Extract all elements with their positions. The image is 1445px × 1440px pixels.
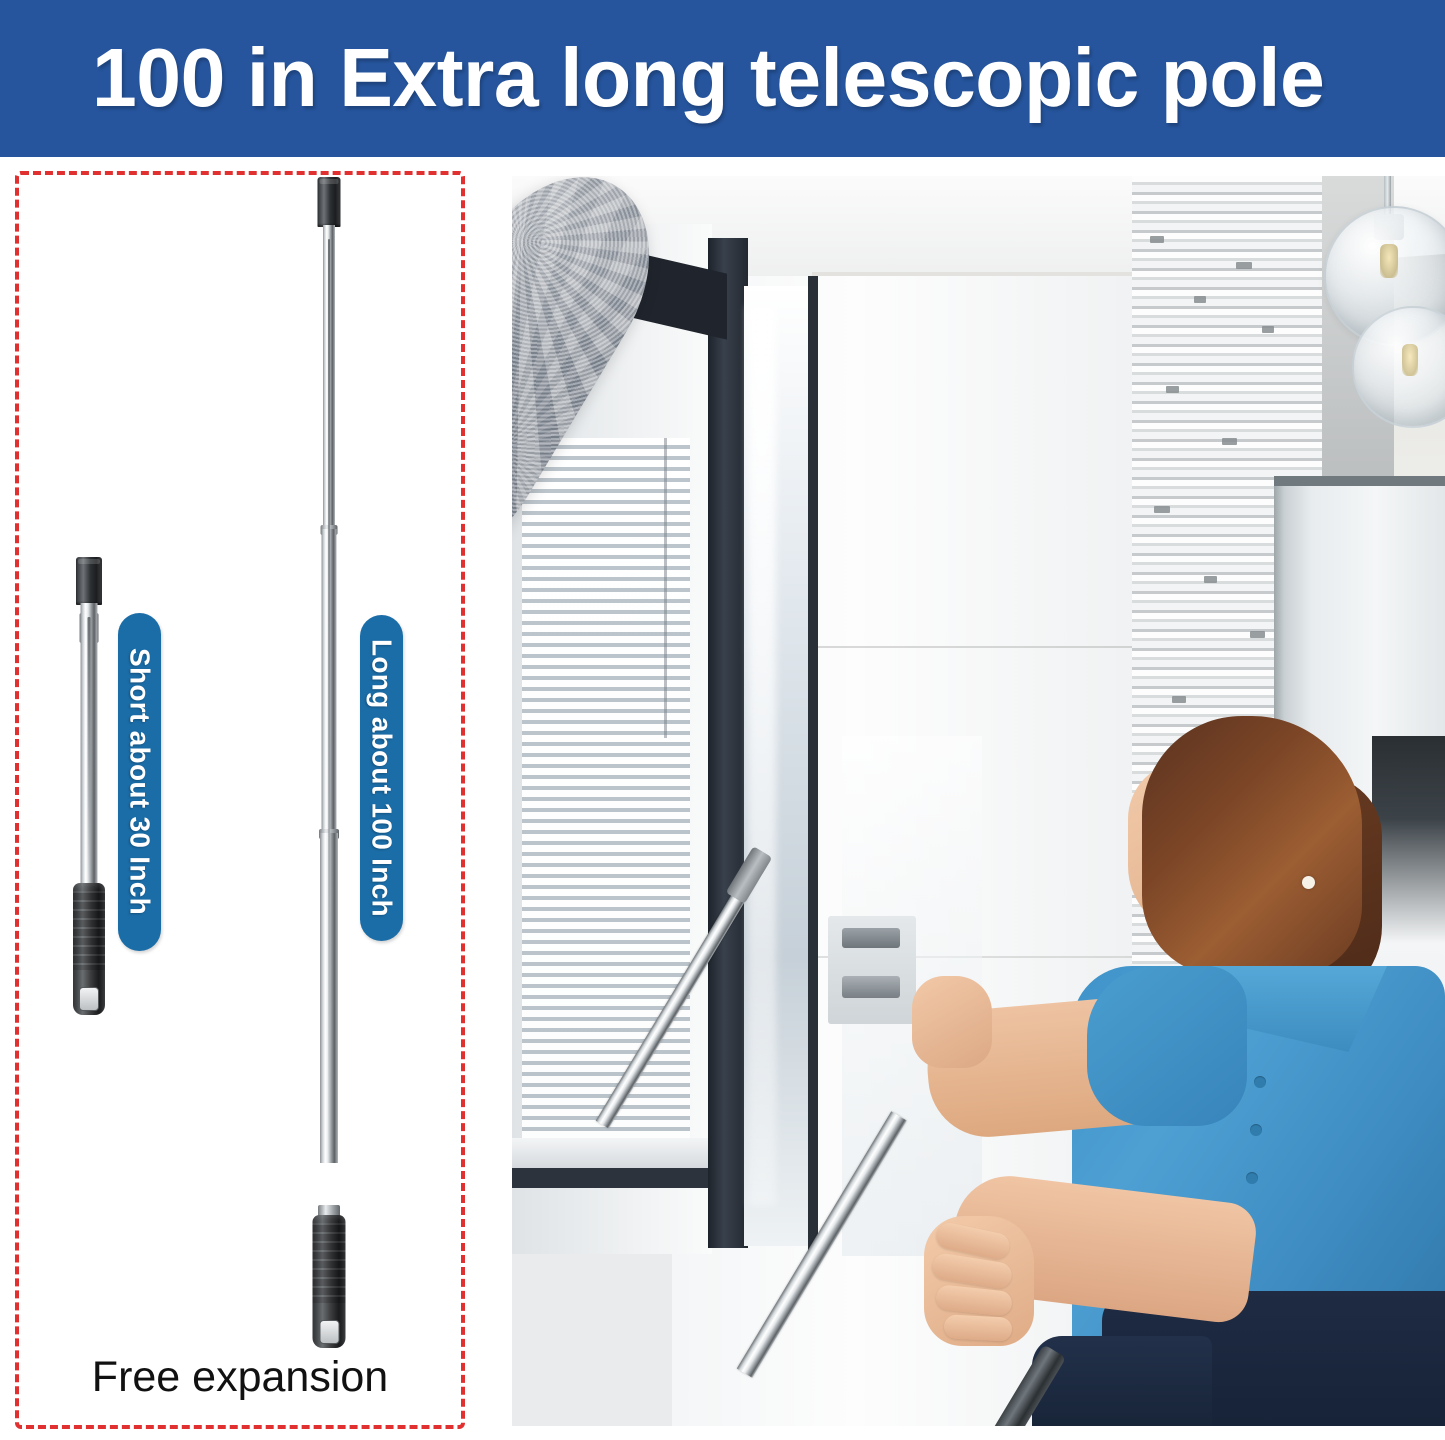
light-bulb-filament bbox=[1402, 344, 1418, 376]
faucet-control-knob bbox=[842, 976, 900, 998]
blinds-cord bbox=[664, 438, 667, 738]
badge-short-length: Short about 30 Inch bbox=[118, 613, 161, 951]
mosaic-chip bbox=[1172, 696, 1186, 703]
shirt-button bbox=[1246, 1172, 1258, 1184]
mosaic-chip bbox=[1204, 576, 1217, 583]
window-sill bbox=[512, 1138, 712, 1168]
mosaic-chip bbox=[1222, 438, 1237, 445]
pole-shaft-seam bbox=[88, 617, 91, 892]
window-sill-shadow bbox=[512, 1168, 712, 1188]
earring bbox=[1302, 876, 1315, 889]
grip-end-cap bbox=[319, 1320, 339, 1344]
mosaic-chip bbox=[1262, 326, 1274, 333]
shirt-button bbox=[1254, 1076, 1266, 1088]
upper-hand bbox=[912, 976, 992, 1068]
mosaic-chip bbox=[1150, 236, 1164, 243]
product-diagram-panel: Short about 30 Inch Long about 100 Inch … bbox=[0, 157, 500, 1440]
free-expansion-caption: Free expansion bbox=[0, 1353, 480, 1402]
window-mullion bbox=[708, 238, 748, 1248]
mirror-bevel bbox=[1274, 476, 1445, 486]
short-pole-illustration bbox=[60, 557, 118, 1027]
shirt-sleeve bbox=[1087, 966, 1247, 1126]
header-banner: 100 in Extra long telescopic pole bbox=[0, 0, 1445, 157]
pole-grip bbox=[313, 1215, 346, 1348]
finger bbox=[943, 1314, 1012, 1342]
window-glare bbox=[748, 306, 776, 1206]
lifestyle-photo bbox=[512, 176, 1445, 1426]
page-title: 100 in Extra long telescopic pole bbox=[92, 28, 1324, 128]
grip-end-cap bbox=[79, 987, 99, 1011]
mosaic-chip bbox=[1250, 631, 1265, 638]
mosaic-chip bbox=[1236, 262, 1252, 269]
grip-ribs bbox=[73, 891, 105, 970]
pole-tip-icon bbox=[76, 557, 102, 605]
hair bbox=[1142, 716, 1362, 976]
light-bulb-filament bbox=[1380, 244, 1398, 278]
badge-short-label: Short about 30 Inch bbox=[124, 648, 156, 915]
mosaic-chip bbox=[1166, 386, 1179, 393]
badge-long-label: Long about 100 Inch bbox=[366, 639, 398, 917]
badge-long-length: Long about 100 Inch bbox=[360, 615, 403, 941]
grip-ribs bbox=[313, 1223, 346, 1303]
pole-shaft-seam bbox=[328, 239, 330, 1154]
pole-tip-icon bbox=[318, 177, 341, 227]
pole-grip bbox=[73, 883, 105, 1015]
navy-pants bbox=[1032, 1336, 1212, 1426]
window-edge bbox=[808, 276, 818, 1256]
long-pole-illustration bbox=[300, 177, 358, 1367]
shirt-button bbox=[1250, 1124, 1262, 1136]
faucet-control-knob bbox=[842, 928, 900, 948]
mosaic-chip bbox=[1154, 506, 1170, 513]
mosaic-chip bbox=[1194, 296, 1206, 303]
